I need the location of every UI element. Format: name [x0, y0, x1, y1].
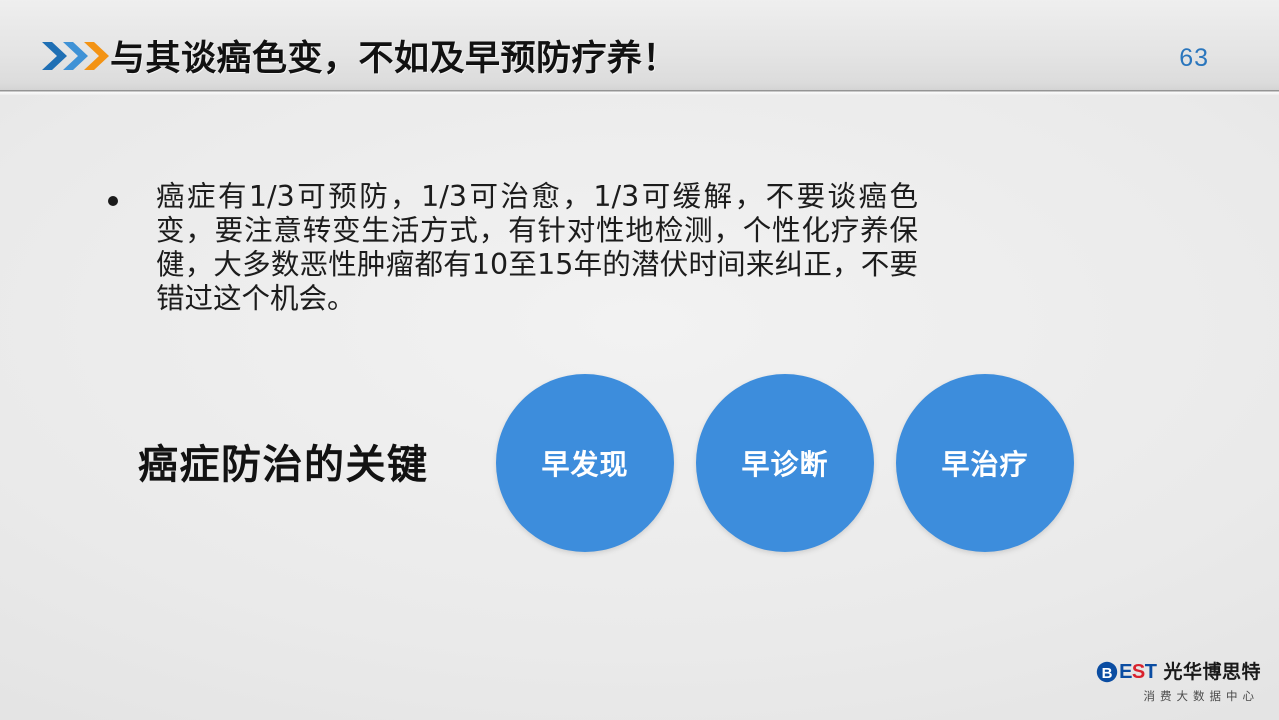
logo-letter-s: S [1132, 661, 1145, 683]
page-title: 与其谈癌色变，不如及早预防疗养！ [110, 30, 678, 81]
logo-row: B E S T 光华博思特 [1096, 659, 1261, 685]
circle-label: 早诊断 [741, 443, 828, 483]
logo-letter-e: E [1119, 661, 1132, 683]
circle-early-diagnosis[interactable]: 早诊断 [696, 374, 874, 552]
best-circle-b-icon: B [1096, 661, 1118, 683]
page-number: 63 [1179, 44, 1209, 73]
logo-company-name: 光华博思特 [1163, 661, 1261, 683]
circle-early-detection[interactable]: 早发现 [496, 374, 674, 552]
logo-letter-t: T [1145, 661, 1157, 683]
bullet-dot-icon [108, 196, 118, 206]
circle-group: 早发现 早诊断 早治疗 [496, 374, 1086, 554]
bullet-paragraph: 癌症有1/3可预防，1/3可治愈，1/3可缓解，不要谈癌色变，要注意转变生活方式… [108, 180, 918, 316]
triple-chevron-right-icon [40, 38, 112, 74]
key-heading: 癌症防治的关键 [138, 432, 429, 490]
slide-canvas: 与其谈癌色变，不如及早预防疗养！ 63 癌症有1/3可预防，1/3可治愈，1/3… [0, 0, 1279, 720]
circle-label: 早发现 [541, 443, 628, 483]
header-divider-highlight [0, 92, 1279, 95]
svg-text:B: B [1102, 665, 1113, 682]
footer-logo: B E S T 光华博思特 消费大数据中心 [1096, 659, 1261, 704]
circle-label: 早治疗 [941, 443, 1028, 483]
bullet-text: 癌症有1/3可预防，1/3可治愈，1/3可缓解，不要谈癌色变，要注意转变生活方式… [156, 180, 918, 316]
logo-subtitle: 消费大数据中心 [1096, 688, 1261, 704]
circle-early-treatment[interactable]: 早治疗 [896, 374, 1074, 552]
